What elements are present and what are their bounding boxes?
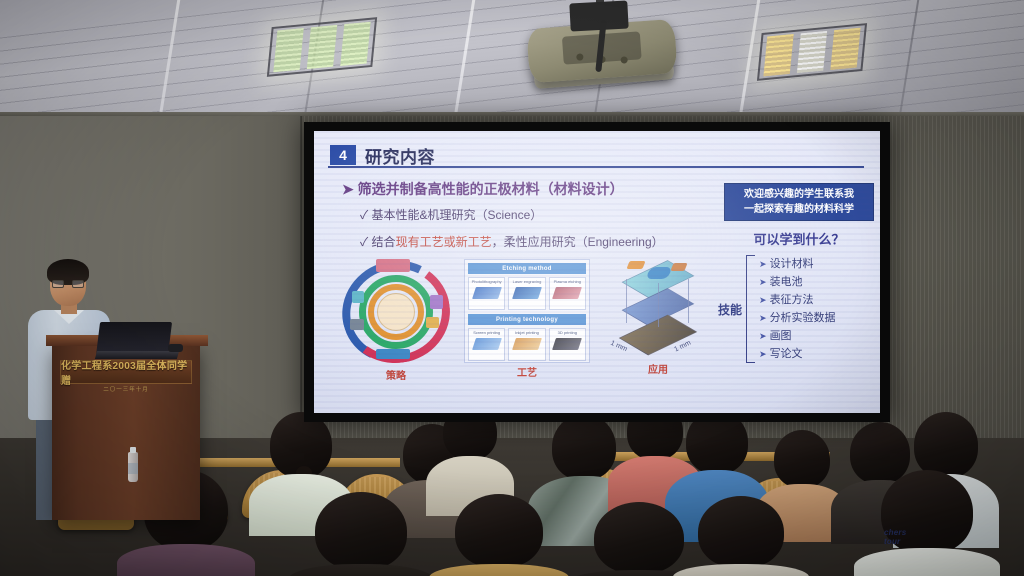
thumbnail [512, 338, 542, 350]
skills-block: 技能 ➤设计材料 ➤装电池 ➤表征方法 ➤分析实验数据 ➤画图 ➤写论文 [718, 255, 876, 363]
projector-vent [620, 56, 627, 63]
figure2-cell-caption: Laser engraving [509, 279, 544, 284]
skills-list: ➤设计材料 ➤装电池 ➤表征方法 ➤分析实验数据 ➤画图 ➤写论文 [759, 256, 836, 363]
diagram-chip [376, 349, 410, 359]
bullet-text: 筛选并制备高性能的正极材料（材料设计） [358, 181, 624, 197]
slide-header-rule [328, 166, 864, 168]
figure-caption: 策略 [340, 367, 452, 382]
ceiling-tile-grid [0, 0, 1024, 128]
arrow-icon: ➤ [759, 313, 767, 323]
skill-label: 设计材料 [770, 258, 814, 270]
figure2-cell-caption: Photolithography [469, 279, 504, 284]
figure-strategy-diagram: 策略 [340, 261, 452, 363]
figure2-cell: Plasma etching [549, 277, 586, 310]
arrow-icon: ➤ [759, 295, 767, 305]
skill-label: 写论文 [770, 348, 803, 360]
audience-torso [117, 544, 255, 576]
skill-label: 表征方法 [770, 294, 814, 306]
audience-member-front [580, 502, 698, 576]
figure-caption: 应用 [604, 361, 712, 376]
arrow-icon: ➤ [759, 259, 767, 269]
diagram-chip [352, 291, 364, 303]
glasses-lens [72, 280, 84, 288]
sub-bullet-text: 结合 [372, 235, 396, 249]
figure-caption: 工艺 [465, 364, 589, 379]
audience-torso [673, 564, 809, 576]
lectern: 化学工程系2003届全体同学赠 二〇一三年十月 [52, 344, 200, 520]
bullet-marker: ➤ [342, 181, 354, 197]
diagram-chip [350, 319, 364, 330]
skill-item: ➤写论文 [759, 346, 836, 363]
shirt-text-line-2: tour [884, 537, 906, 546]
diagram-chip [430, 295, 443, 309]
audience-torso [429, 564, 569, 576]
figure2-row: Photolithography Laser engraving Plasma … [468, 277, 586, 310]
thumbnail [472, 287, 502, 299]
slide-header: 4 研究内容 [330, 141, 862, 169]
check-icon: ✓ [360, 235, 368, 249]
figure2-row: Screen printing Inkjet printing 3D print… [468, 328, 586, 361]
audience-torso [288, 564, 434, 576]
figure-device-stack: 1 mm 1 mm 应用 [604, 257, 712, 363]
invitation-banner: 欢迎感兴趣的学生联系我 一起探索有趣的材料科学 [724, 183, 874, 221]
slide-bullet-sub: ✓ 基本性能&机理研究（Science） [360, 206, 542, 223]
stack-post [658, 283, 659, 327]
figure2-cell: Laser engraving [508, 277, 545, 310]
screen-surface: 4 研究内容 ➤ 筛选并制备高性能的正极材料（材料设计） ✓ 基本性能&机理研究… [314, 131, 880, 413]
diagram-chip [376, 259, 410, 272]
audience-head [698, 496, 784, 568]
audience-member-front [866, 470, 988, 576]
skill-item: ➤画图 [759, 328, 836, 345]
audience-head [914, 412, 978, 478]
audience-torso [854, 548, 1000, 576]
lectern-plaque: 化学工程系2003届全体同学赠 [60, 360, 192, 384]
stack-post [688, 279, 689, 323]
projection-screen: 4 研究内容 ➤ 筛选并制备高性能的正极材料（材料设计） ✓ 基本性能&机理研究… [304, 122, 890, 422]
check-icon: ✓ [360, 208, 368, 222]
banner-line-2: 一起探索有趣的材料科学 [727, 202, 871, 217]
arrow-icon: ➤ [759, 349, 767, 359]
sub-bullet-tail: ，柔性应用研究（Engineering） [492, 235, 664, 249]
thumbnail [472, 338, 502, 350]
light-tube [340, 22, 370, 67]
lecture-hall-photo: 4 研究内容 ➤ 筛选并制备高性能的正极材料（材料设计） ✓ 基本性能&机理研究… [0, 0, 1024, 576]
slide-bullet-sub: ✓ 结合现有工艺或新工艺，柔性应用研究（Engineering） [360, 233, 664, 250]
ceiling [0, 0, 1024, 128]
skills-label: 技能 [718, 301, 742, 318]
light-tube [307, 25, 337, 70]
skill-item: ➤分析实验数据 [759, 310, 836, 327]
shirt-graphic-text: chers tour [884, 528, 906, 546]
light-tube [830, 27, 860, 70]
light-tube [273, 28, 303, 73]
audience-member-front [440, 494, 558, 576]
sub-bullet-highlight: 现有工艺或新工艺 [396, 235, 492, 249]
glasses-icon [52, 280, 84, 288]
audience-member-front [300, 492, 422, 576]
slide-title: 研究内容 [365, 143, 435, 168]
arrow-icon: ➤ [759, 277, 767, 287]
bottle-label [128, 463, 138, 474]
presentation-slide: 4 研究内容 ➤ 筛选并制备高性能的正极材料（材料设计） ✓ 基本性能&机理研究… [314, 131, 880, 413]
skill-label: 分析实验数据 [770, 312, 836, 324]
figure2-cell: 3D printing [549, 328, 586, 361]
skill-label: 画图 [770, 330, 792, 342]
figure2-cell: Screen printing [468, 328, 505, 361]
audience-member-front [684, 496, 798, 576]
water-bottle [128, 452, 138, 482]
figure2-cell-caption: Inkjet printing [509, 330, 544, 335]
thumbnail [552, 287, 582, 299]
skill-item: ➤表征方法 [759, 292, 836, 309]
light-tube [797, 31, 827, 74]
figure2-cell: Photolithography [468, 277, 505, 310]
arrow-icon: ➤ [759, 331, 767, 341]
figure2-cell-caption: 3D printing [550, 330, 585, 335]
wall-seam [300, 116, 302, 446]
ceiling-light-panel [267, 17, 377, 77]
figure2-section-title: Etching method [468, 263, 586, 274]
figure2-cell-caption: Screen printing [469, 330, 504, 335]
skill-item: ➤装电池 [759, 274, 836, 291]
sub-bullet-text: 基本性能&机理研究（Science） [372, 208, 543, 222]
figure-process-matrix: Etching method Photolithography Laser en… [464, 259, 590, 363]
plaque-date: 二〇一三年十月 [60, 385, 192, 393]
audience-head [594, 502, 684, 574]
stack-post [626, 279, 627, 323]
device-component [626, 261, 645, 269]
presenter-laptop-base [95, 351, 179, 359]
audience-head [552, 414, 616, 480]
thumbnail [512, 287, 542, 299]
skill-item: ➤设计材料 [759, 256, 836, 273]
diagram-chip [426, 317, 439, 328]
slide-bullet-primary: ➤ 筛选并制备高性能的正极材料（材料设计） [342, 179, 624, 199]
slide-section-number: 4 [330, 145, 356, 165]
figure2-cell-caption: Plasma etching [550, 279, 585, 284]
figure2-section-title: Printing technology [468, 314, 586, 325]
skills-brace-icon [746, 255, 755, 363]
audience-head [455, 494, 543, 568]
ring-core [377, 293, 415, 331]
light-tube [763, 34, 793, 77]
microphone [168, 344, 183, 352]
shirt-text-line-1: chers [884, 528, 906, 537]
plaque-inscription: 化学工程系2003届全体同学赠 [61, 357, 191, 387]
figure2-cell: Inkjet printing [508, 328, 545, 361]
audience-head [315, 492, 407, 570]
glasses-lens [52, 280, 64, 288]
learn-question-heading: 可以学到什么？ [724, 229, 874, 248]
skill-label: 装电池 [770, 276, 803, 288]
audience-head [774, 430, 830, 488]
thumbnail [552, 338, 582, 350]
banner-line-1: 欢迎感兴趣的学生联系我 [727, 187, 871, 202]
